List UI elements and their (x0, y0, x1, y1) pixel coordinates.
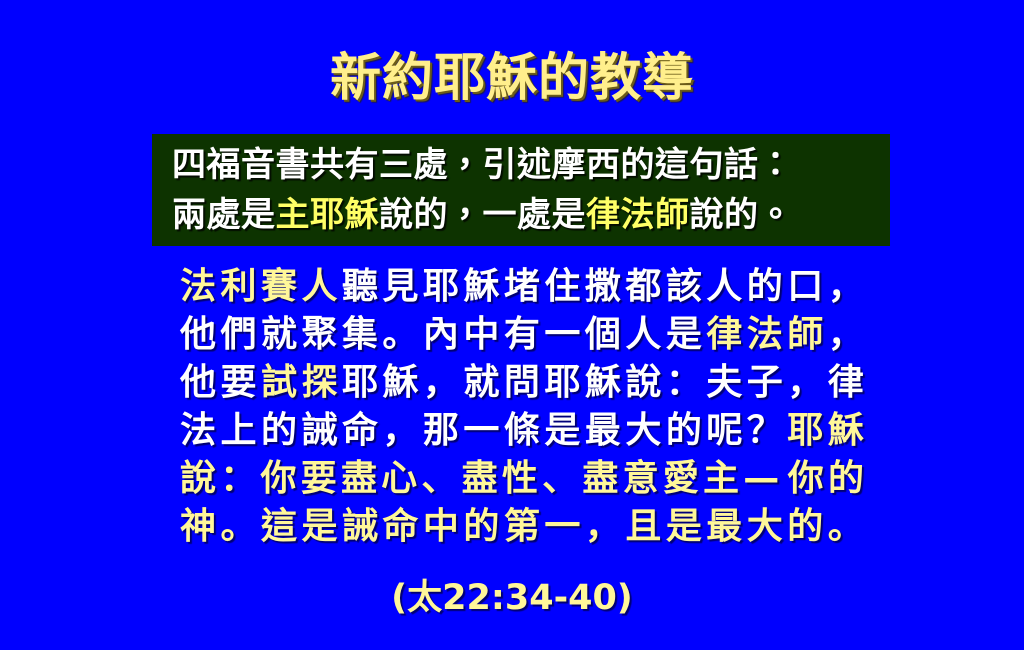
quote-callout-box: 四福音書共有三處，引述摩西的這句話： 兩處是主耶穌說的，一處是律法師說的。 (152, 134, 890, 246)
text-glyph: 神 (180, 503, 216, 551)
text-glyph: 呢 (706, 407, 742, 455)
text-glyph: 該 (666, 263, 702, 311)
text-glyph: 愛 (663, 455, 699, 503)
text-glyph: 聽 (342, 263, 378, 311)
text-glyph: 、 (421, 455, 457, 503)
text-glyph: 是 (666, 503, 702, 551)
text-glyph: 命 (342, 407, 378, 455)
text-glyph: 賽 (261, 263, 297, 311)
text-glyph: 探 (301, 359, 337, 407)
text-glyph: 中 (463, 311, 499, 359)
text-glyph: 法 (180, 263, 216, 311)
text-glyph: 要 (220, 359, 256, 407)
text-glyph: 盡 (462, 455, 498, 503)
text-glyph: 耶 (342, 359, 378, 407)
text-glyph: 律 (706, 311, 742, 359)
text-glyph: 撒 (585, 263, 621, 311)
scripture-body: 法利賽人聽見耶穌堵住撒都該人的口， 他們就聚集。內中有一個人是律法師， 他要試探… (180, 263, 864, 551)
text-glyph: 上 (220, 407, 256, 455)
text-glyph: ， (828, 311, 864, 359)
scripture-reference: (太22:34-40) (0, 576, 1024, 620)
scripture-line: 說：你要盡心、盡性、盡意愛主— 你的 (180, 455, 864, 503)
plain-text: 四福音書共有三處，引述摩西的這句話： (172, 145, 793, 185)
text-glyph: 最 (585, 407, 621, 455)
text-glyph: 穌 (463, 263, 499, 311)
quote-line: 兩處是主耶穌說的，一處是律法師說的。 (172, 190, 876, 240)
text-glyph: 大 (747, 503, 783, 551)
page-title: 新約耶穌的教導 (0, 50, 1024, 108)
scripture-line: 法利賽人聽見耶穌堵住撒都該人的口， (180, 263, 864, 311)
text-glyph: 的 (261, 407, 297, 455)
text-glyph: 的 (463, 503, 499, 551)
quote-line: 四福音書共有三處，引述摩西的這句話： (172, 140, 876, 190)
text-glyph: 夫 (706, 359, 742, 407)
text-glyph: — (743, 455, 779, 503)
text-glyph: 。 (828, 503, 864, 551)
text-glyph: 穌 (585, 359, 621, 407)
text-glyph: 意 (623, 455, 659, 503)
text-glyph: 人 (625, 311, 661, 359)
text-glyph: 師 (787, 311, 823, 359)
text-glyph: 主 (703, 455, 739, 503)
text-glyph: 集 (342, 311, 378, 359)
text-glyph: 你 (260, 455, 296, 503)
text-glyph: 的 (787, 503, 823, 551)
text-glyph: 法 (747, 311, 783, 359)
text-glyph: 有 (504, 311, 540, 359)
text-glyph: 中 (423, 503, 459, 551)
highlighted-text: 律法師 (586, 195, 690, 235)
text-glyph: 利 (220, 263, 256, 311)
text-glyph: ， (423, 359, 459, 407)
text-glyph: 心 (381, 455, 417, 503)
text-glyph: 法 (180, 407, 216, 455)
text-glyph: 條 (504, 407, 540, 455)
text-glyph: 試 (261, 359, 297, 407)
text-glyph: 那 (423, 407, 459, 455)
text-glyph: 堵 (504, 263, 540, 311)
text-glyph: 聚 (301, 311, 337, 359)
plain-text: 兩處是 (172, 195, 276, 235)
text-glyph: 一 (544, 503, 580, 551)
text-glyph: 大 (625, 407, 661, 455)
text-glyph: 說 (180, 455, 216, 503)
text-glyph: 個 (585, 311, 621, 359)
text-glyph: 住 (544, 263, 580, 311)
text-glyph: 口 (787, 263, 823, 311)
highlighted-text: 主耶穌 (276, 195, 380, 235)
text-glyph: 他 (180, 359, 216, 407)
text-glyph: 穌 (382, 359, 418, 407)
text-glyph: 要 (301, 455, 337, 503)
text-glyph: ？ (747, 407, 783, 455)
scripture-line: 他要試探耶穌，就問耶穌說：夫子，律 (180, 359, 864, 407)
text-glyph: 。 (382, 311, 418, 359)
text-glyph: 一 (463, 407, 499, 455)
text-glyph: 盡 (582, 455, 618, 503)
text-glyph: ， (828, 263, 864, 311)
text-glyph: 說 (625, 359, 661, 407)
text-glyph: 的 (747, 263, 783, 311)
scripture-line: 法上的誡命，那一條是最大的呢？耶穌 (180, 407, 864, 455)
text-glyph: 內 (423, 311, 459, 359)
text-glyph: 見 (382, 263, 418, 311)
text-glyph: 盡 (341, 455, 377, 503)
plain-text: 說的。 (690, 195, 794, 235)
text-glyph: 且 (625, 503, 661, 551)
scripture-line: 他們就聚集。內中有一個人是律法師， (180, 311, 864, 359)
text-glyph: 穌 (828, 407, 864, 455)
text-glyph: 就 (261, 311, 297, 359)
text-glyph: 他 (180, 311, 216, 359)
text-glyph: 性 (502, 455, 538, 503)
text-glyph: 第 (504, 503, 540, 551)
text-glyph: 是 (544, 407, 580, 455)
text-glyph: 耶 (787, 407, 823, 455)
text-glyph: 是 (301, 503, 337, 551)
text-glyph: 一 (544, 311, 580, 359)
text-glyph: 問 (504, 359, 540, 407)
text-glyph: 是 (666, 311, 702, 359)
text-glyph: 們 (220, 311, 256, 359)
text-glyph: 人 (301, 263, 337, 311)
text-glyph: 最 (706, 503, 742, 551)
text-glyph: 、 (542, 455, 578, 503)
text-glyph: 命 (382, 503, 418, 551)
text-glyph: 這 (261, 503, 297, 551)
text-glyph: 耶 (423, 263, 459, 311)
text-glyph: 都 (625, 263, 661, 311)
scripture-line: 神。這是誡命中的第一，且是最大的。 (180, 503, 864, 551)
text-glyph: 誡 (342, 503, 378, 551)
text-glyph: 你 (788, 455, 824, 503)
text-glyph: 誡 (301, 407, 337, 455)
text-glyph: 的 (828, 455, 864, 503)
text-glyph: 耶 (544, 359, 580, 407)
plain-text: 說的，一處是 (379, 195, 586, 235)
text-glyph: 的 (666, 407, 702, 455)
text-glyph: 子 (747, 359, 783, 407)
text-glyph: ， (585, 503, 621, 551)
text-glyph: ， (787, 359, 823, 407)
text-glyph: ， (382, 407, 418, 455)
text-glyph: ： (666, 359, 702, 407)
slide-canvas: 新約耶穌的教導 四福音書共有三處，引述摩西的這句話： 兩處是主耶穌說的，一處是律… (0, 0, 1024, 650)
text-glyph: ： (220, 455, 256, 503)
text-glyph: 就 (463, 359, 499, 407)
text-glyph: 。 (220, 503, 256, 551)
text-glyph: 人 (706, 263, 742, 311)
text-glyph: 律 (828, 359, 864, 407)
